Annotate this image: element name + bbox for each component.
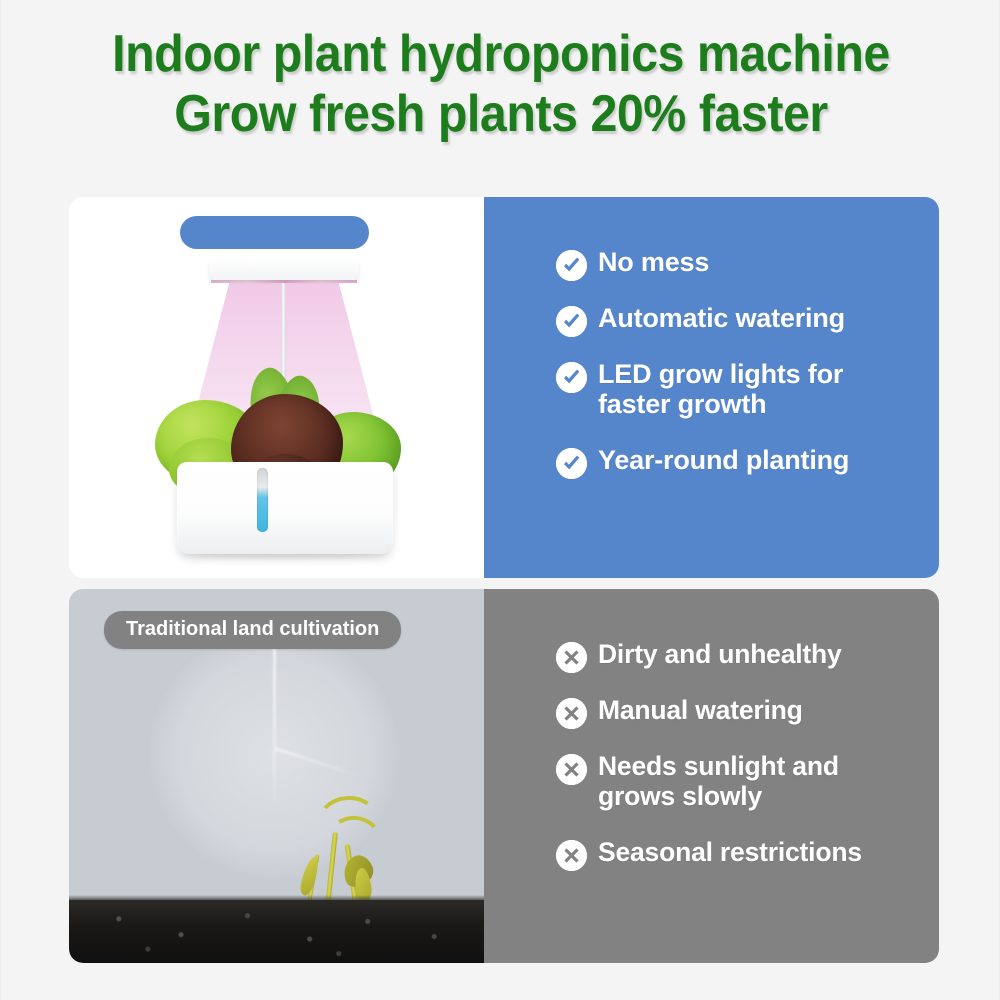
hydroponics-device-illustration xyxy=(153,258,413,558)
page-title: Indoor plant hydroponics machine Grow fr… xyxy=(1,24,1000,144)
drawback-label: Dirty and unhealthy xyxy=(598,639,842,669)
title-line-1: Indoor plant hydroponics machine xyxy=(36,24,966,84)
check-circle-icon xyxy=(556,448,587,479)
advantage-label-line-1: LED grow lights for xyxy=(598,359,843,389)
product-photo-banner xyxy=(180,216,369,249)
drawback-label: Seasonal restrictions xyxy=(598,837,862,867)
x-circle-icon xyxy=(556,642,587,673)
advantage-section: No mess Automatic watering LED gr xyxy=(69,197,939,578)
wilted-seedling-illustration xyxy=(299,786,399,906)
traditional-cultivation-badge: Traditional land cultivation xyxy=(104,611,401,649)
x-circle-icon xyxy=(556,754,587,785)
soil-bed xyxy=(69,900,484,963)
advantage-label: LED grow lights for faster growth xyxy=(598,359,843,419)
list-item: Automatic watering xyxy=(556,303,933,337)
drawback-label-line-1: Needs sunlight and xyxy=(598,751,839,781)
drawback-label: Needs sunlight and grows slowly xyxy=(598,751,839,811)
drawback-label: Manual watering xyxy=(598,695,803,725)
list-item: Dirty and unhealthy xyxy=(556,639,933,673)
x-circle-icon xyxy=(556,840,587,871)
product-infographic-page: Indoor plant hydroponics machine Grow fr… xyxy=(0,0,1000,1000)
drawback-section: Traditional land cultivation Dirty and u… xyxy=(69,589,939,963)
device-water-tank xyxy=(177,462,393,554)
water-level-gauge xyxy=(257,468,268,532)
hydroponics-product-photo xyxy=(69,197,484,578)
list-item: Needs sunlight and grows slowly xyxy=(556,751,933,811)
comparison-block: No mess Automatic watering LED gr xyxy=(69,197,939,963)
advantage-label: Automatic watering xyxy=(598,303,845,333)
advantage-label: No mess xyxy=(598,247,709,277)
traditional-soil-photo: Traditional land cultivation xyxy=(69,589,484,963)
list-item: Seasonal restrictions xyxy=(556,837,933,871)
advantage-label-line-2: faster growth xyxy=(598,389,766,419)
light-ray xyxy=(273,631,276,801)
check-circle-icon xyxy=(556,362,587,393)
check-circle-icon xyxy=(556,306,587,337)
drawbacks-panel: Dirty and unhealthy Manual watering xyxy=(484,589,939,963)
wilted-leaf xyxy=(298,855,320,897)
advantages-panel: No mess Automatic watering LED gr xyxy=(484,197,939,578)
x-circle-icon xyxy=(556,698,587,729)
list-item: Manual watering xyxy=(556,695,933,729)
list-item: LED grow lights for faster growth xyxy=(556,359,933,419)
device-light-hood xyxy=(209,258,359,280)
drawback-feature-list: Dirty and unhealthy Manual watering xyxy=(556,639,933,893)
drawback-label-line-2: grows slowly xyxy=(598,781,762,811)
check-circle-icon xyxy=(556,250,587,281)
advantage-feature-list: No mess Automatic watering LED gr xyxy=(556,247,933,501)
list-item: No mess xyxy=(556,247,933,281)
advantage-label: Year-round planting xyxy=(598,445,849,475)
list-item: Year-round planting xyxy=(556,445,933,479)
title-line-2: Grow fresh plants 20% faster xyxy=(36,84,966,144)
